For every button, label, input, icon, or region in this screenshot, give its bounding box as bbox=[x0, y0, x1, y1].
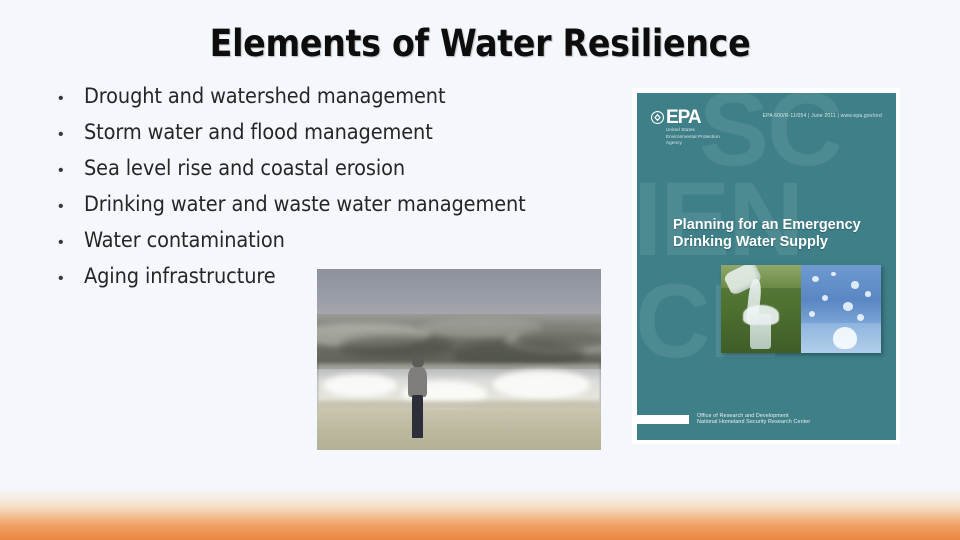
epa-wordmark: EPA bbox=[666, 109, 720, 126]
epa-report-title: Planning for an Emergency Drinking Water… bbox=[673, 217, 883, 251]
bullet-marker-icon: • bbox=[58, 190, 84, 224]
bullet-marker-icon: • bbox=[58, 262, 84, 296]
photo-sky bbox=[317, 269, 601, 320]
epa-agency-line-3: Agency bbox=[666, 140, 720, 146]
bullet-marker-icon: • bbox=[58, 82, 84, 116]
epa-agency-line-2: Environmental Protection bbox=[666, 134, 720, 140]
list-item: • Drinking water and waste water managem… bbox=[58, 188, 618, 222]
epa-report-meta: EPA 600/R-11/054 | June 2011 | www.epa.g… bbox=[763, 113, 882, 119]
list-item-label: Aging infrastructure bbox=[84, 260, 276, 294]
slide: Elements of Water Resilience • Drought a… bbox=[0, 0, 960, 540]
water-drop bbox=[831, 272, 836, 276]
epa-logo: EPA United States Environmental Protecti… bbox=[651, 109, 720, 146]
footer-accent-bar bbox=[637, 415, 689, 424]
water-drop-large bbox=[833, 327, 857, 350]
water-droplets-photo bbox=[801, 265, 881, 353]
photo-beach bbox=[317, 410, 601, 450]
wave-trough bbox=[516, 329, 601, 349]
water-drop bbox=[822, 295, 828, 301]
list-item-label: Drought and watershed management bbox=[84, 80, 445, 114]
list-item: • Sea level rise and coastal erosion bbox=[58, 152, 618, 186]
bullet-marker-icon: • bbox=[58, 226, 84, 260]
list-item: • Water contamination bbox=[58, 224, 618, 258]
list-item-label: Sea level rise and coastal erosion bbox=[84, 152, 405, 186]
water-pouring-photo bbox=[721, 265, 801, 353]
watermark-line: SC bbox=[699, 93, 841, 171]
water-drop bbox=[812, 276, 819, 282]
person-torso bbox=[408, 367, 427, 398]
person-figure bbox=[404, 356, 432, 439]
water-drop bbox=[843, 302, 853, 311]
list-item-label: Storm water and flood management bbox=[84, 116, 433, 150]
bullet-marker-icon: • bbox=[58, 118, 84, 152]
list-item: • Storm water and flood management bbox=[58, 116, 618, 150]
epa-footer-text: Office of Research and Development Natio… bbox=[697, 413, 810, 426]
epa-report-cover: SC IEN CE EPA United States Environmenta… bbox=[632, 88, 900, 444]
drinking-glass bbox=[750, 314, 771, 349]
epa-cover-page: SC IEN CE EPA United States Environmenta… bbox=[637, 93, 896, 440]
page-title: Elements of Water Resilience bbox=[0, 22, 960, 65]
epa-seal-icon bbox=[651, 111, 664, 124]
photo-wet-sand bbox=[317, 401, 601, 410]
water-drop bbox=[809, 311, 815, 317]
water-drop bbox=[857, 314, 864, 321]
person-legs bbox=[412, 395, 423, 438]
list-item-label: Water contamination bbox=[84, 224, 285, 258]
storm-wave-photo bbox=[317, 269, 601, 450]
list-item: • Drought and watershed management bbox=[58, 80, 618, 114]
list-item-label: Drinking water and waste water managemen… bbox=[84, 188, 526, 222]
bullet-marker-icon: • bbox=[58, 154, 84, 188]
epa-cover-footer: Office of Research and Development Natio… bbox=[637, 413, 810, 426]
epa-agency-line-1: United States bbox=[666, 127, 720, 133]
epa-cover-photo-pair bbox=[721, 265, 881, 353]
epa-footer-line-1: Office of Research and Development bbox=[697, 413, 810, 420]
epa-footer-line-2: National Homeland Security Research Cent… bbox=[697, 419, 810, 426]
epa-report-title-line-2: Drinking Water Supply bbox=[673, 234, 883, 251]
bullet-list: • Drought and watershed management • Sto… bbox=[58, 80, 618, 296]
wave-trough bbox=[340, 336, 454, 358]
epa-wordmark-block: EPA United States Environmental Protecti… bbox=[666, 109, 720, 146]
water-drop bbox=[851, 281, 860, 289]
water-drop bbox=[865, 291, 871, 296]
epa-report-title-line-1: Planning for an Emergency bbox=[673, 217, 883, 234]
bottom-accent-band bbox=[0, 488, 960, 540]
surf-foam bbox=[493, 370, 590, 399]
